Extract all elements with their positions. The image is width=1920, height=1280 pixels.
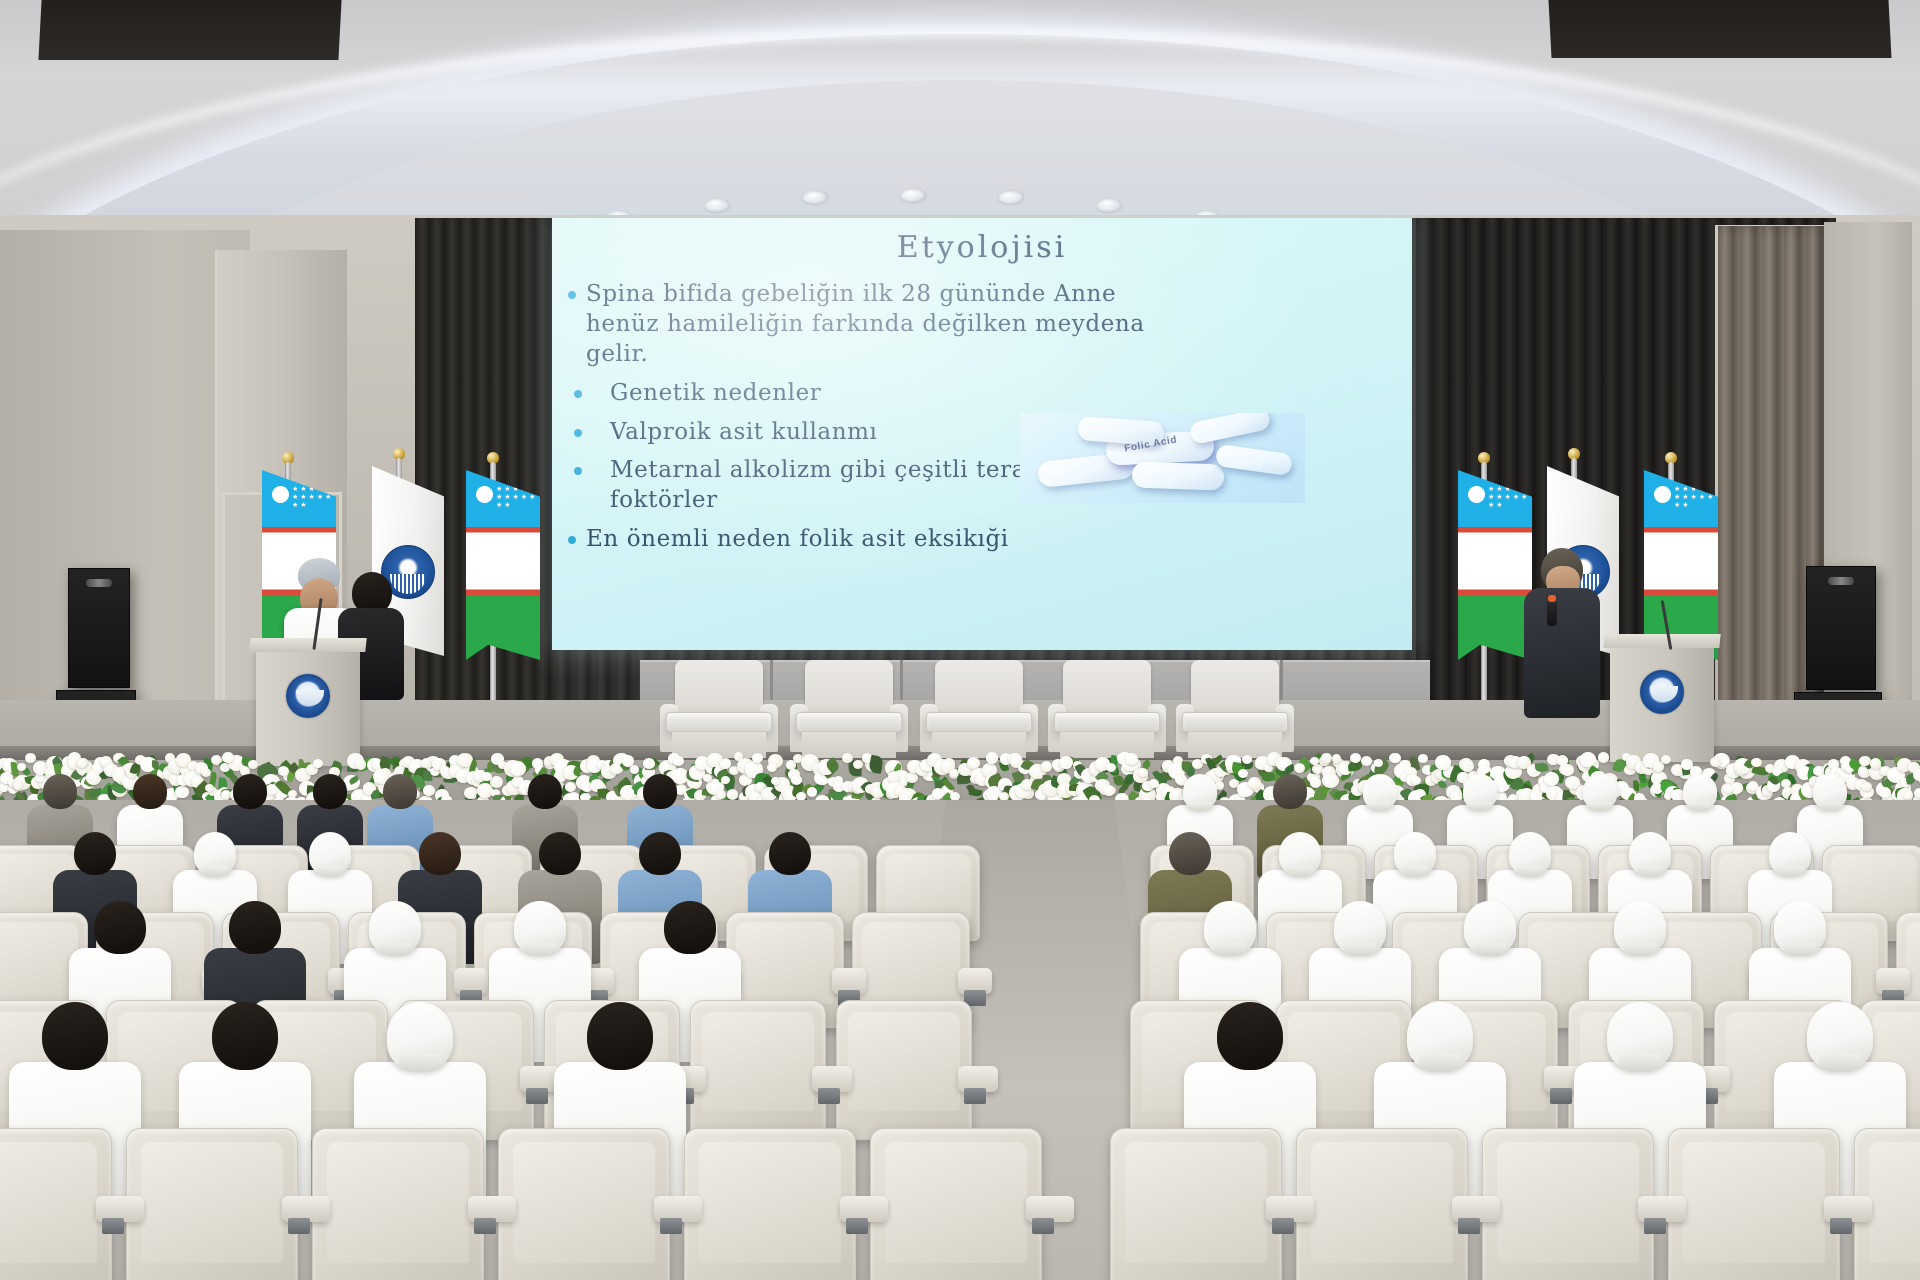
- audience-seat: [684, 1128, 856, 1280]
- audience-head: [94, 901, 145, 954]
- white-medical-cap: [1464, 901, 1515, 954]
- stage-armchair-5: [1176, 660, 1294, 756]
- audience-head: [133, 774, 166, 809]
- white-medical-cap: [1509, 832, 1551, 876]
- white-medical-cap: [514, 901, 565, 954]
- stage-armchair-1: [660, 660, 778, 756]
- audience-head: [419, 832, 461, 876]
- garland-rose: [673, 756, 684, 766]
- garland-rose: [1859, 756, 1871, 767]
- audience-seat: [690, 1000, 826, 1140]
- audience-seat: [870, 1128, 1042, 1280]
- university-emblem-icon: [1640, 670, 1684, 714]
- slide-bullet-text: Spina bifida gebeliğin ilk 28 gününde An…: [586, 280, 1400, 370]
- seat-armrest: [282, 1196, 330, 1222]
- bullet-dot-icon: [574, 467, 582, 475]
- garland-rose: [423, 785, 435, 796]
- white-medical-cap: [1394, 832, 1436, 876]
- garland-rose: [986, 752, 999, 764]
- ceiling-downlight: [802, 190, 828, 204]
- seat-cushion: [862, 922, 959, 1004]
- crescent-moon-icon: [1654, 486, 1671, 503]
- ceiling-downlight: [1096, 198, 1122, 212]
- garland-rose: [1321, 753, 1331, 763]
- audience-head: [383, 774, 416, 809]
- audience-seat: [498, 1128, 670, 1280]
- seat-armrest: [812, 1066, 852, 1092]
- chair-seat: [1054, 712, 1160, 732]
- garland-rose: [1461, 760, 1473, 771]
- white-medical-cap: [1807, 1002, 1873, 1070]
- audience-head: [313, 774, 346, 809]
- projection-screen-frame: Etyolojisi Spina bifida gebeliğin ilk 28…: [552, 218, 1412, 650]
- garland-rose: [201, 768, 211, 777]
- seat-armrest: [1824, 1196, 1872, 1222]
- garland-rose: [1138, 768, 1148, 777]
- seat-cushion: [513, 1142, 656, 1263]
- seat-armrest: [1026, 1196, 1074, 1222]
- ceiling-dark-panel-left: [38, 0, 341, 60]
- pill-6: [1215, 444, 1293, 476]
- audience-seat: [1482, 1128, 1654, 1280]
- audience-seat: [1110, 1128, 1282, 1280]
- slide-bullet-text: Genetik nedenler: [592, 379, 1400, 409]
- white-medical-cap: [1607, 1002, 1673, 1070]
- seat-arm-support: [526, 1088, 548, 1104]
- seat-cushion: [1683, 1142, 1826, 1263]
- speaker-badge: [1828, 577, 1854, 585]
- ceiling-dark-panel-right: [1548, 0, 1891, 58]
- white-medical-cap: [1363, 774, 1396, 809]
- seat-cushion: [0, 922, 78, 1004]
- garland-rose: [482, 772, 491, 781]
- garland-rose: [767, 763, 777, 772]
- garland-rose: [1870, 758, 1882, 769]
- audience-head: [639, 832, 681, 876]
- seat-arm-support: [474, 1218, 496, 1234]
- garland-rose: [1751, 758, 1761, 768]
- conference-hall-photo: Etyolojisi Spina bifida gebeliğin ilk 28…: [0, 0, 1920, 1280]
- garland-rose: [1248, 777, 1261, 789]
- garland-rose: [643, 758, 655, 769]
- crescent-moon-icon: [1468, 486, 1485, 503]
- crescent-moon-icon: [272, 486, 289, 503]
- seat-cushion: [1125, 1142, 1268, 1263]
- seat-cushion: [736, 922, 833, 1004]
- seat-arm-support: [846, 1218, 868, 1234]
- white-medical-cap: [1463, 774, 1496, 809]
- garland-rose: [906, 772, 918, 783]
- audience-head: [43, 774, 76, 809]
- seat-cushion: [848, 1012, 961, 1111]
- ceiling-downlight: [704, 198, 730, 212]
- stage-armchair-2: [790, 660, 908, 756]
- audience-seat: [126, 1128, 298, 1280]
- audience-seat: [1668, 1128, 1840, 1280]
- chair-back: [935, 660, 1023, 716]
- garland-rose: [565, 782, 576, 792]
- garland-rose: [1041, 761, 1053, 772]
- seat-arm-support: [1032, 1218, 1054, 1234]
- garland-rose: [1238, 769, 1248, 778]
- garland-rose: [248, 760, 258, 769]
- seat-arm-support: [1830, 1218, 1852, 1234]
- seat-arm-support: [818, 1088, 840, 1104]
- garland-leaf: [1113, 774, 1124, 786]
- bullet-dot-icon: [574, 390, 582, 398]
- uzbekistan-flag-right-2: ★★★★★★★★★★★★: [1644, 470, 1718, 660]
- audience-seat: [836, 1000, 972, 1140]
- garland-rose: [77, 759, 87, 768]
- seat-arm-support: [102, 1218, 124, 1234]
- stage-armchair-4: [1048, 660, 1166, 756]
- chair-seat: [796, 712, 902, 732]
- seat-cushion: [141, 1142, 284, 1263]
- handheld-microphone: [1547, 600, 1557, 626]
- white-medical-cap: [369, 901, 420, 954]
- garland-rose: [1106, 763, 1116, 772]
- slide-title: Etyolojisi: [552, 230, 1412, 265]
- white-medical-cap: [1334, 901, 1385, 954]
- garland-rose: [1361, 756, 1372, 766]
- garland-rose: [1914, 788, 1920, 798]
- podium-left: [256, 648, 360, 766]
- seat-armrest: [96, 1196, 144, 1222]
- seat-armrest: [832, 968, 866, 994]
- bullet-dot-icon: [568, 536, 576, 544]
- slide-bullet-1: Spina bifida gebeliğin ilk 28 gününde An…: [568, 280, 1400, 370]
- audience-seat: [1296, 1128, 1468, 1280]
- garland-rose: [752, 753, 763, 763]
- pill-5: [1132, 461, 1225, 490]
- chair-back: [675, 660, 763, 716]
- seat-cushion: [327, 1142, 470, 1263]
- garland-rose: [727, 789, 738, 799]
- seat-arm-support: [1644, 1218, 1666, 1234]
- garland-rose: [25, 753, 36, 763]
- chair-seat: [1182, 712, 1288, 732]
- seat-armrest: [958, 968, 992, 994]
- white-medical-cap: [387, 1002, 453, 1070]
- white-medical-cap: [1629, 832, 1671, 876]
- stage-armchair-3: [920, 660, 1038, 756]
- audience-head: [769, 832, 811, 876]
- garland-rose: [703, 774, 712, 782]
- slide-bullet-2: Genetik nedenler: [568, 379, 1400, 409]
- seat-armrest: [1638, 1196, 1686, 1222]
- chair-seat: [666, 712, 772, 732]
- garland-rose: [222, 752, 234, 763]
- podium-top: [249, 638, 366, 652]
- pa-speaker-left-top: [68, 568, 130, 688]
- seat-cushion: [699, 1142, 842, 1263]
- garland-rose: [1781, 779, 1791, 788]
- pa-speaker-right-top: [1806, 566, 1876, 690]
- audience-head: [539, 832, 581, 876]
- garland-rose: [791, 775, 802, 785]
- university-emblem-icon: [286, 674, 330, 718]
- garland-rose: [1435, 755, 1451, 769]
- bullet-dot-icon: [574, 429, 582, 437]
- white-medical-cap: [1774, 901, 1825, 954]
- pill-4: [1189, 413, 1272, 445]
- audience-head: [1217, 1002, 1283, 1070]
- seat-armrest: [958, 1066, 998, 1092]
- crescent-moon-icon: [476, 486, 493, 503]
- folic-acid-pills-photo: Folic Acid: [1020, 413, 1305, 503]
- white-medical-cap: [1813, 774, 1846, 809]
- audience-seat: [312, 1128, 484, 1280]
- chair-back: [1191, 660, 1279, 716]
- garland-rose: [1103, 785, 1116, 797]
- seat-armrest: [840, 1196, 888, 1222]
- white-medical-cap: [309, 832, 351, 876]
- garland-rose: [221, 790, 231, 799]
- white-medical-cap: [1183, 774, 1216, 809]
- garland-rose: [1418, 754, 1427, 763]
- uzbekistan-flag-right-1: ★★★★★★★★★★★★: [1458, 470, 1532, 660]
- seat-armrest: [1266, 1196, 1314, 1222]
- audience-head: [528, 774, 561, 809]
- garland-leaf: [868, 755, 884, 774]
- audience-head: [42, 1002, 108, 1070]
- white-medical-cap: [194, 832, 236, 876]
- audience-head: [664, 901, 715, 954]
- seat-cushion: [1311, 1142, 1454, 1263]
- garland-rose: [1322, 773, 1339, 788]
- audience-head: [1273, 774, 1306, 809]
- seat-cushion: [0, 1142, 97, 1263]
- white-medical-cap: [1614, 901, 1665, 954]
- garland-rose: [807, 787, 817, 796]
- white-medical-cap: [1769, 832, 1811, 876]
- chair-back: [805, 660, 893, 716]
- seat-cushion: [702, 1012, 815, 1111]
- seat-arm-support: [1272, 1218, 1294, 1234]
- audience-head: [643, 774, 676, 809]
- audience-head: [1169, 832, 1211, 876]
- speaker-badge: [86, 579, 112, 587]
- audience-head: [229, 901, 280, 954]
- garland-rose: [842, 753, 853, 763]
- slide-bullet-5: En önemli neden folik asit eksikıği: [568, 525, 1400, 555]
- garland-rose: [630, 765, 639, 773]
- garland-rose: [1710, 757, 1721, 768]
- seat-cushion: [1869, 1142, 1920, 1263]
- garland-rose: [1861, 782, 1871, 792]
- seat-arm-support: [1550, 1088, 1572, 1104]
- seat-arm-support: [1458, 1218, 1480, 1234]
- garland-rose: [313, 759, 323, 768]
- garland-rose: [1598, 752, 1610, 763]
- projection-screen: Etyolojisi Spina bifida gebeliğin ilk 28…: [552, 218, 1412, 650]
- uzbekistan-flag-left-2: ★★★★★★★★★★★★: [466, 470, 540, 660]
- seat-armrest: [1876, 968, 1910, 994]
- garland-rose: [175, 786, 188, 798]
- garland-rose: [1059, 756, 1073, 769]
- audience-head: [74, 832, 116, 876]
- chair-back: [1063, 660, 1151, 716]
- garland-rose: [86, 770, 102, 785]
- seat-armrest: [1452, 1196, 1500, 1222]
- seat-arm-support: [660, 1218, 682, 1234]
- seat-armrest: [454, 968, 488, 994]
- audience-head: [212, 1002, 278, 1070]
- seat-cushion: [1497, 1142, 1640, 1263]
- podium-right: [1610, 644, 1714, 762]
- audience-head: [587, 1002, 653, 1070]
- ceiling-downlight: [900, 188, 926, 202]
- podium-top: [1603, 634, 1720, 648]
- garland-rose: [1661, 755, 1671, 764]
- garland-rose: [1561, 764, 1574, 776]
- chair-seat: [926, 712, 1032, 732]
- garland-rose: [1580, 752, 1596, 767]
- seat-armrest: [654, 1196, 702, 1222]
- white-medical-cap: [1683, 774, 1716, 809]
- slide-bullet-text: En önemli neden folik asit eksikıği: [586, 525, 1400, 555]
- seat-arm-support: [964, 1088, 986, 1104]
- seat-cushion: [885, 1142, 1028, 1263]
- garland-rose: [1903, 791, 1912, 800]
- seat-armrest: [468, 1196, 516, 1222]
- bullet-dot-icon: [568, 291, 576, 299]
- garland-rose: [1544, 772, 1559, 785]
- garland-rose: [1125, 753, 1138, 765]
- white-medical-cap: [1407, 1002, 1473, 1070]
- white-medical-cap: [1583, 774, 1616, 809]
- audience-head: [233, 774, 266, 809]
- garland-rose: [490, 776, 503, 788]
- white-medical-cap: [1204, 901, 1255, 954]
- garland-rose: [1879, 787, 1891, 798]
- dark-suit: [1524, 588, 1600, 718]
- seat-arm-support: [288, 1218, 310, 1234]
- white-medical-cap: [1279, 832, 1321, 876]
- ceiling-downlight: [998, 190, 1024, 204]
